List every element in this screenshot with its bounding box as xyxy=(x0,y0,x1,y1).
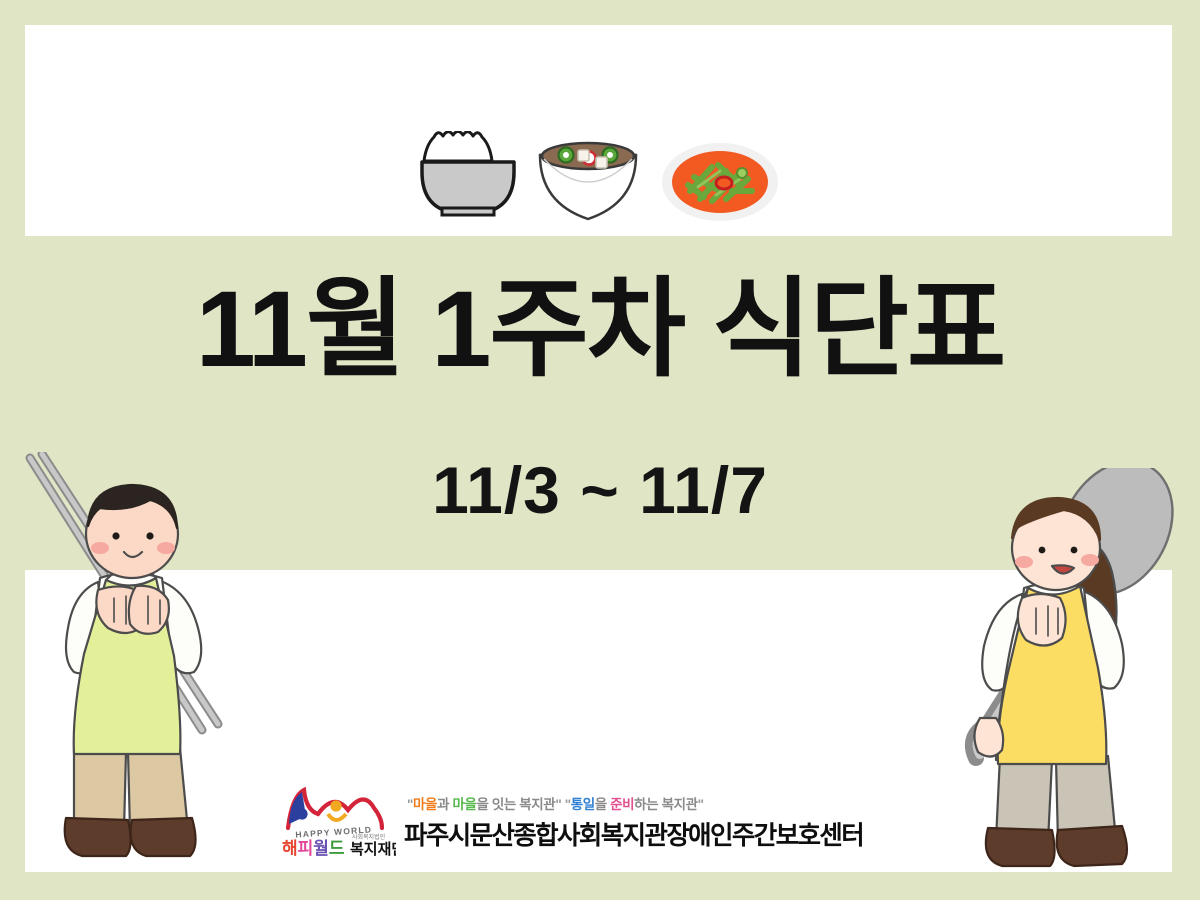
tagline-word-tongil: 통일 xyxy=(571,797,595,812)
tagline-close-quote-2: " xyxy=(698,797,704,812)
happy-world-logo-icon: HAPPY WORLD 해피월드 사회복지법인 복지재단 xyxy=(278,784,396,860)
tagline-word-maeul-2: 마을 xyxy=(452,797,476,812)
tagline-text-2: 을 잇는 복지관 xyxy=(476,797,555,812)
girl-with-spoon-illustration xyxy=(940,468,1190,878)
tagline-word-junbi: 준비 xyxy=(610,797,634,812)
rice-bowl-icon xyxy=(420,131,516,223)
side-dish-icon xyxy=(660,141,780,223)
tagline-close-quote-1: " xyxy=(555,797,561,812)
soup-bowl-icon xyxy=(534,141,642,223)
menu-poster: 11월 1주차 식단표 11/3 ~ 11/7 xyxy=(0,0,1200,900)
tagline-text-1: 과 xyxy=(437,797,452,812)
logo-sub-main: 복지재단 xyxy=(350,841,396,858)
footer-text-block: "마을과 마을을 잇는 복지관" "통일을 준비하는 복지관" 파주시문산종합사… xyxy=(404,793,863,852)
footer: HAPPY WORLD 해피월드 사회복지법인 복지재단 "마을과 마을을 잇는… xyxy=(278,784,863,860)
tagline-word-maeul-1: 마을 xyxy=(413,797,437,812)
organization-name: 파주시문산종합사회복지관장애인주간보호센터 xyxy=(404,815,863,852)
logo-sub-small: 사회복지법인 xyxy=(352,833,385,841)
tagline-text-3: 을 xyxy=(595,797,610,812)
svg-text:해피월드: 해피월드 xyxy=(282,839,345,858)
food-icon-row xyxy=(0,118,1200,223)
boy-with-chopsticks-illustration xyxy=(22,452,272,872)
tagline: "마을과 마을을 잇는 복지관" "통일을 준비하는 복지관" xyxy=(404,793,863,813)
tagline-text-4: 하는 복지관 xyxy=(634,797,697,812)
page-title: 11월 1주차 식단표 xyxy=(0,272,1200,385)
